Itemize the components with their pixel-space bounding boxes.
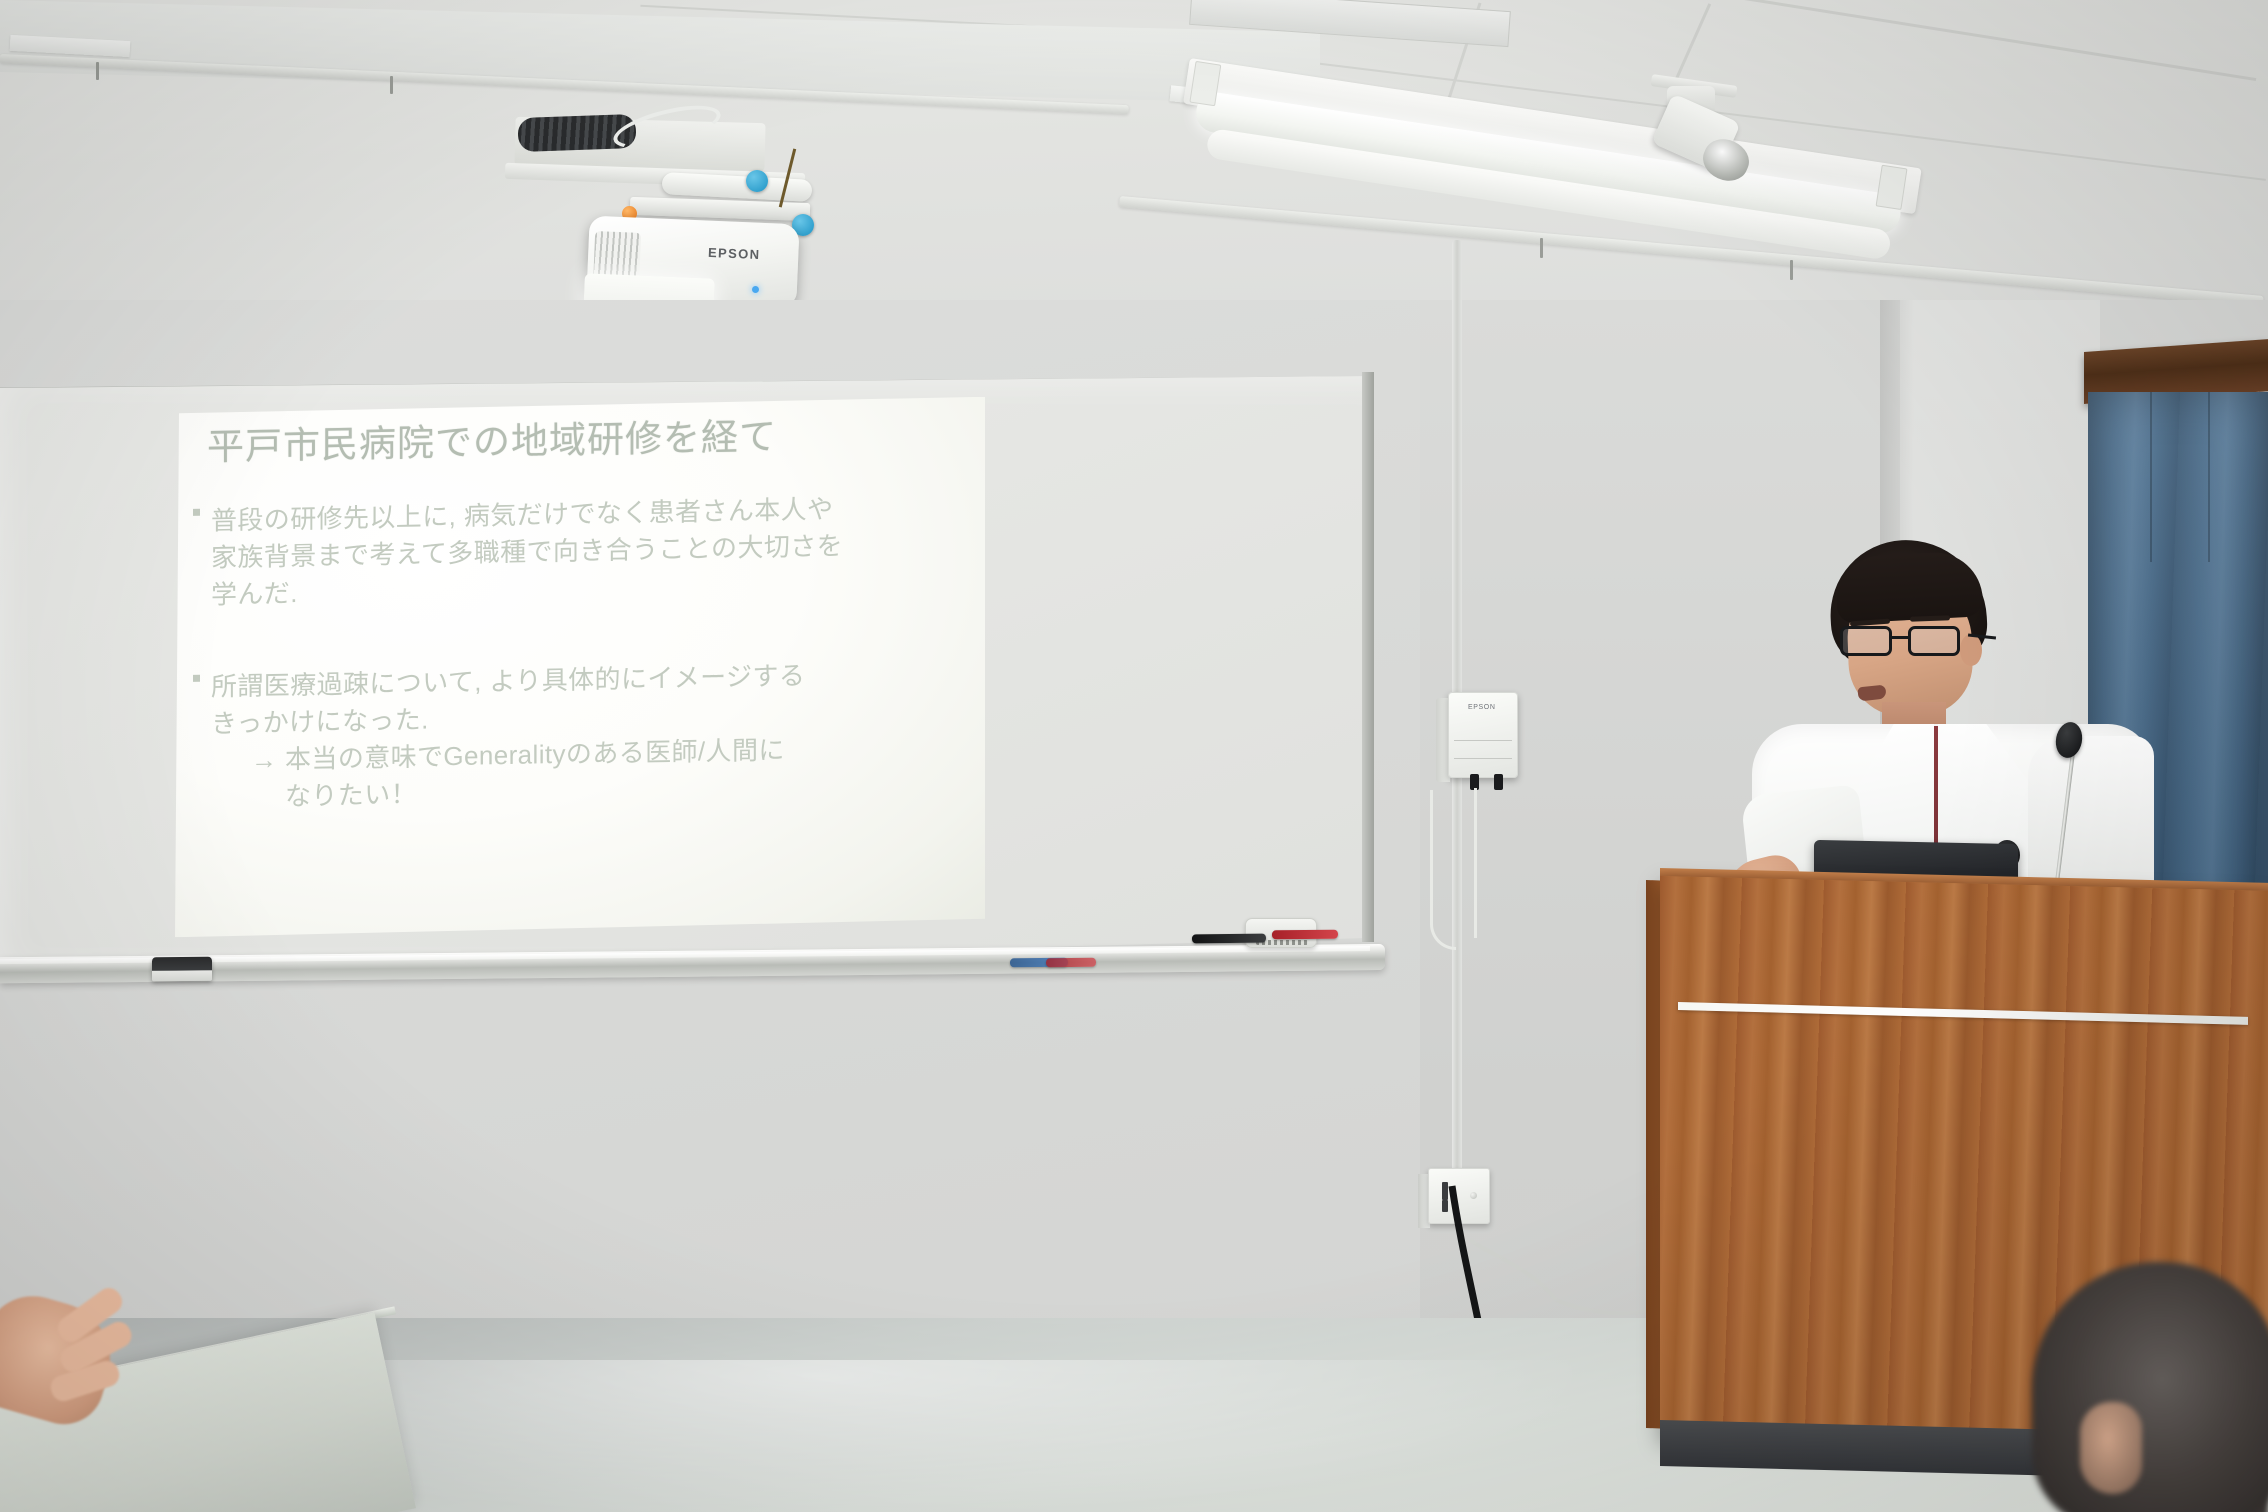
whiteboard-marker-red[interactable]	[1272, 930, 1338, 940]
floor-reflection	[300, 1360, 1600, 1512]
slide-title: 平戸市民病院での地域研修を経て	[207, 411, 947, 470]
eyeglass-bridge	[1892, 636, 1908, 639]
eyeglasses-icon	[1840, 626, 1974, 660]
slide-bullet-2: 所謂医療過疎について, より具体的にイメージする きっかけになった. → 本当の…	[193, 655, 953, 817]
bullet-marker-icon	[193, 509, 200, 516]
track-spotlight	[1645, 78, 1765, 198]
wall-box-divider	[1454, 740, 1512, 741]
audience-ear	[2080, 1402, 2142, 1494]
audience-head	[2032, 1262, 2268, 1512]
whiteboard-marker-red-2[interactable]	[1046, 958, 1096, 968]
whiteboard-eraser[interactable]	[152, 957, 212, 982]
wall-box-brand-label: EPSON	[1468, 704, 1496, 711]
projector-power-led	[752, 286, 759, 293]
wall-box-cable-loop	[1430, 790, 1456, 950]
outlet-slot-left	[1442, 1182, 1448, 1200]
wall-box-cable	[1474, 788, 1477, 938]
slide-bullet-1: 普段の研修先以上に, 病気だけでなく患者さん本人や 家族背景まで考えて多職種で向…	[193, 489, 953, 614]
whiteboard-marker-black[interactable]	[1192, 934, 1266, 944]
presentation-room-photo: EPSON 平戸市民病院での地域研修を経て 普段の研修先以上に, 病気だけでなく…	[0, 0, 2268, 1512]
wall-outlet[interactable]	[1428, 1168, 1490, 1224]
outlet-screw	[1470, 1192, 1477, 1199]
projector-brand-label: EPSON	[708, 245, 761, 262]
wall-box-port-right[interactable]	[1494, 774, 1503, 790]
eyeglass-lens-right	[1908, 626, 1960, 656]
eyeglass-lens-left	[1840, 626, 1892, 656]
curtain-hook	[1540, 238, 1543, 258]
projector: EPSON	[560, 128, 890, 328]
whiteboard-right-frame	[1362, 372, 1374, 942]
curtain-pleat	[2208, 392, 2210, 562]
projected-slide: 平戸市民病院での地域研修を経て 普段の研修先以上に, 病気だけでなく患者さん本人…	[175, 397, 985, 938]
curtain-hook	[96, 62, 99, 80]
curtain-pleat	[2150, 392, 2152, 562]
curtain-hook	[390, 76, 393, 94]
curtain-hook	[1790, 260, 1793, 280]
wall-box-divider	[1454, 758, 1512, 759]
outlet-slot-right	[1442, 1200, 1448, 1212]
bullet-marker-icon	[193, 675, 200, 682]
projector-adjust-knob-blue[interactable]	[746, 170, 768, 192]
